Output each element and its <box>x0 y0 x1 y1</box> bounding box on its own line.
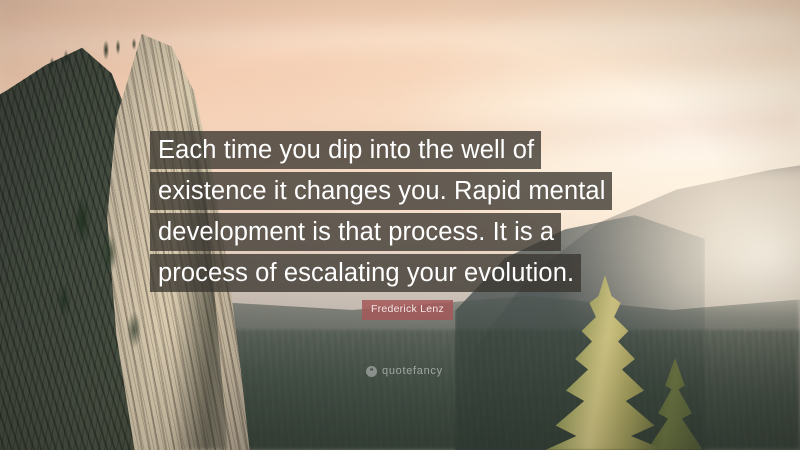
quote-mark-icon: ❝ <box>366 366 377 377</box>
quotefancy-watermark[interactable]: ❝ quotefancy <box>366 366 443 377</box>
quote-line: existence it changes you. Rapid mental <box>150 172 612 210</box>
quote-poster: Each time you dip into the well of exist… <box>0 0 800 450</box>
watermark-brand-label: quotefancy <box>382 366 443 377</box>
author-badge[interactable]: Frederick Lenz <box>362 300 453 320</box>
quote-text-block: Each time you dip into the well of exist… <box>150 131 670 295</box>
quote-line: development is that process. It is a <box>150 213 561 251</box>
quote-line: process of escalating your evolution. <box>150 254 581 292</box>
quote-line: Each time you dip into the well of <box>150 131 541 169</box>
